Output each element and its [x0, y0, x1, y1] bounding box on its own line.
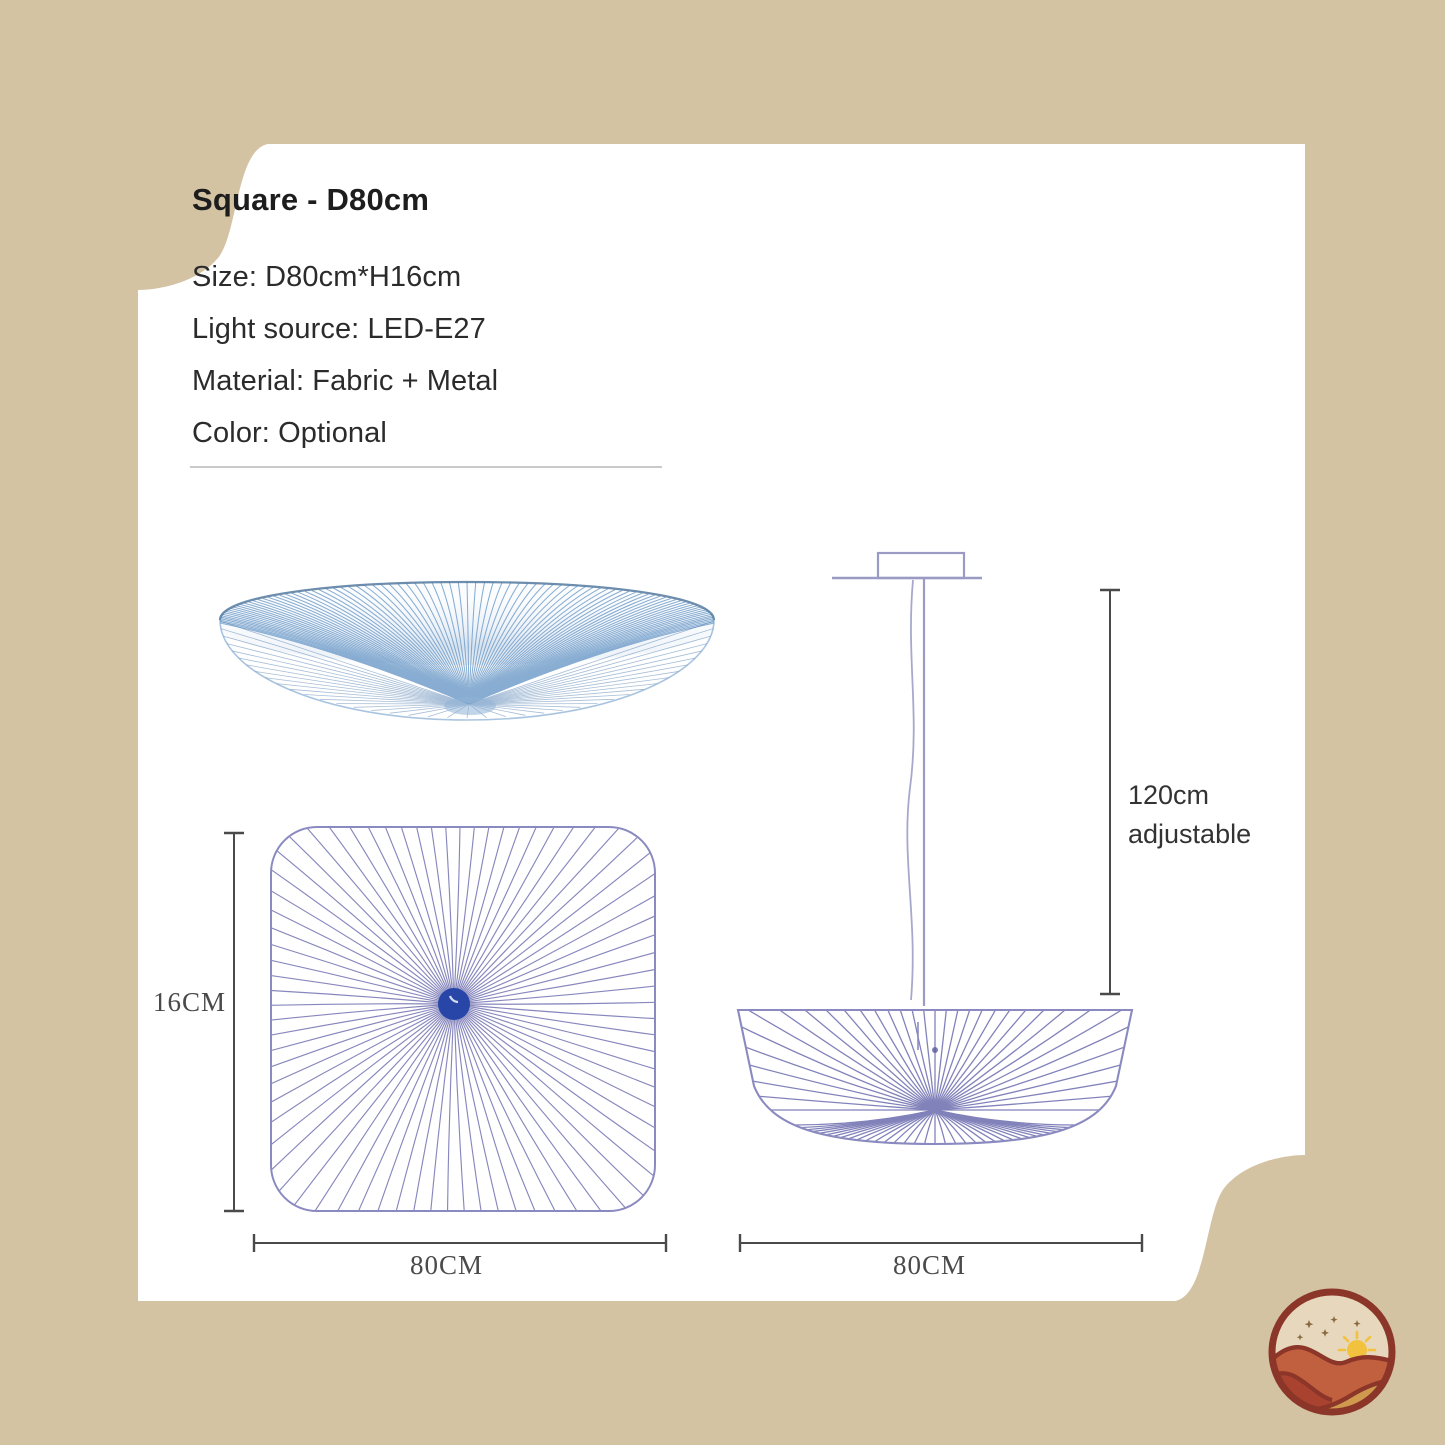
- dimension-height-16cm: [214, 824, 254, 1220]
- dimension-label-height: 16CM: [153, 987, 226, 1018]
- spec-line-size: Size: D80cm*H16cm: [192, 252, 752, 304]
- spec-line-color: Color: Optional: [192, 408, 752, 460]
- desert-mountains-logo-icon: [1262, 1282, 1402, 1422]
- spec-line-light-source: Light source: LED-E27: [192, 304, 752, 356]
- spec-line-material: Material: Fabric + Metal: [192, 356, 752, 408]
- brand-logo: [1262, 1282, 1402, 1422]
- section-divider: [190, 466, 662, 468]
- page-title: Square - D80cm: [192, 182, 752, 218]
- center-hub-icon: [438, 988, 470, 1020]
- spec-sheet-canvas: Square - D80cm Size: D80cm*H16cm Light s…: [0, 0, 1445, 1445]
- power-cable: [907, 580, 913, 1000]
- drop-label-line2: adjustable: [1128, 815, 1251, 854]
- dimension-label-width-right: 80CM: [893, 1250, 966, 1281]
- top-view-square: [268, 824, 658, 1214]
- dimension-drop-120cm: [1090, 582, 1130, 1002]
- ceiling-canopy: [878, 553, 964, 578]
- drop-label-line1: 120cm: [1128, 776, 1251, 815]
- spec-text-block: Square - D80cm Size: D80cm*H16cm Light s…: [192, 182, 752, 460]
- dimension-label-width-left: 80CM: [410, 1250, 483, 1281]
- perspective-render: [212, 580, 722, 750]
- side-view-elevation: [720, 538, 1150, 1210]
- dimension-label-drop: 120cm adjustable: [1128, 776, 1251, 854]
